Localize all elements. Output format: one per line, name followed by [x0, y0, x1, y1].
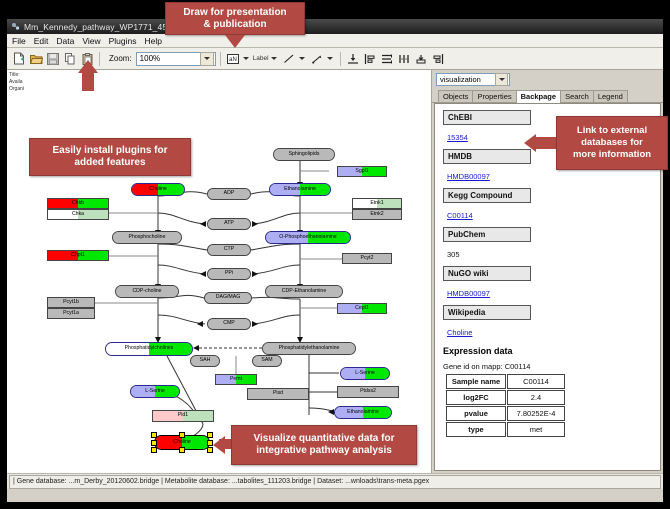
metabolite-node-cmp[interactable]: CMP: [207, 318, 251, 330]
callout-draw-arrow: [225, 35, 245, 48]
node-label: ATP: [224, 221, 234, 226]
gene-node-ptdss2[interactable]: Ptdss2: [337, 386, 399, 398]
node-label: SAH: [200, 358, 211, 363]
expression-table: Sample name C00114 log2FC 2.4 pvalue 7.8…: [445, 373, 566, 438]
node-label: Sgpl1: [355, 169, 368, 174]
callout-links-text: Link to external databases for more info…: [573, 125, 651, 161]
gene-node-pisd[interactable]: Pisd: [247, 388, 309, 400]
metabolite-node-ppi[interactable]: PPi: [207, 268, 251, 280]
svg-text:aN: aN: [229, 57, 237, 63]
align-right-icon[interactable]: [430, 51, 446, 67]
selection-handle[interactable]: [151, 432, 157, 438]
node-label: Pemt: [230, 377, 242, 382]
gene-id-line: Gene id on mapp: C00114: [443, 362, 660, 371]
tab-objects[interactable]: Objects: [438, 90, 473, 102]
metabolite-node-dag-mag[interactable]: DAG/MAG: [204, 292, 252, 304]
gene-node-pcyt1b[interactable]: Pcyt1b: [47, 297, 95, 308]
menu-item-file[interactable]: File: [12, 36, 26, 46]
node-label: Sphingolipids: [289, 152, 320, 157]
callout-visualize: Visualize quantitative data for integrat…: [231, 425, 417, 465]
node-label: Phosphocholine: [129, 235, 166, 240]
expr-key-pvalue: pvalue: [446, 406, 506, 421]
node-label: Cept1: [355, 306, 369, 311]
node-label: Ethanolamine: [347, 410, 379, 415]
title-bar: Mm_Kennedy_pathway_WP1771_45176.gpml: [7, 19, 663, 34]
align-bottom-icon[interactable]: [345, 51, 361, 67]
metabolite-node-choline[interactable]: Choline: [131, 183, 185, 196]
open-folder-icon[interactable]: [28, 51, 44, 67]
db-header-hmdb: HMDB: [443, 149, 531, 164]
gene-node-cept1[interactable]: Cept1: [337, 303, 387, 314]
gene-node-chkb[interactable]: Chkb: [47, 198, 109, 209]
metabolite-node-atp[interactable]: ATP: [207, 218, 251, 230]
chevron-down-icon[interactable]: [200, 52, 214, 66]
copy-icon[interactable]: [62, 51, 78, 67]
selection-handle[interactable]: [151, 447, 157, 453]
node-label: ADP: [224, 191, 235, 196]
callout-links-arrow: [524, 134, 536, 152]
node-label: PPi: [225, 271, 233, 276]
gene-node-pld1[interactable]: Pld1: [152, 410, 214, 422]
node-label: Chpt1: [71, 253, 85, 258]
metabolite-node-l-serine[interactable]: L-Serine: [340, 367, 390, 380]
tab-properties[interactable]: Properties: [472, 90, 516, 102]
interaction-arrow-icon[interactable]: [309, 51, 325, 67]
menu-item-edit[interactable]: Edit: [34, 36, 49, 46]
metabolite-node-ctp[interactable]: CTP: [207, 244, 251, 256]
tab-legend[interactable]: Legend: [593, 90, 628, 102]
node-label: Pcyt1b: [63, 300, 79, 305]
stack-vertical-icon[interactable]: [379, 51, 395, 67]
pathvisio-window: Mm_Kennedy_pathway_WP1771_45176.gpml Fil…: [6, 18, 664, 503]
node-label: Etnk2: [370, 212, 383, 217]
expr-val-type: met: [507, 422, 565, 437]
chevron-down-icon[interactable]: [495, 73, 508, 86]
callout-draw: Draw for presentation & publication: [165, 2, 305, 35]
metabolite-node-phosphocholine[interactable]: Phosphocholine: [112, 231, 182, 244]
node-label: L-Serine: [355, 371, 375, 376]
node-label: SAM: [261, 358, 272, 363]
callout-plugins-stem2: [82, 73, 94, 91]
toolbar: Zoom: 100% aN Label: [7, 48, 663, 70]
metabolite-node-o-phosphoethanolamine[interactable]: O-Phosphoethanolamine: [265, 231, 351, 244]
selection-handle[interactable]: [179, 447, 185, 453]
pathvisio-icon: [11, 22, 20, 31]
table-row: pvalue 7.80252E-4: [446, 406, 565, 421]
gene-node-etnk1[interactable]: Etnk1: [352, 198, 402, 209]
callout-visualize-arrow: [213, 436, 225, 454]
tab-search[interactable]: Search: [560, 90, 594, 102]
expr-key-type: type: [446, 422, 506, 437]
metabolite-node-l-serine[interactable]: L-Serine: [130, 385, 180, 398]
gene-node-chpt1[interactable]: Chpt1: [47, 250, 109, 261]
metabolite-node-sphingolipids[interactable]: Sphingolipids: [273, 148, 335, 161]
gene-node-pcyt1a[interactable]: Pcyt1a: [47, 308, 95, 319]
label-dropdown-label: Label: [253, 55, 269, 62]
metabolite-node-phosphatidylethanolamine[interactable]: Phosphatidylethanolamine: [262, 342, 356, 355]
callout-plugins: Easily install plugins for added feature…: [29, 138, 191, 176]
callout-draw-text: Draw for presentation & publication: [183, 7, 286, 31]
save-icon[interactable]: [45, 51, 61, 67]
db-link-wikipedia[interactable]: Choline: [447, 328, 472, 337]
metabolite-node-cdp-ethanolamine[interactable]: CDP-Ethanolamine: [265, 285, 343, 298]
db-header-wikipedia: Wikipedia: [443, 305, 531, 320]
datanode-dropdown[interactable]: aN: [225, 51, 252, 67]
node-label: Phosphatidylethanolamine: [279, 346, 340, 351]
callout-visualize-text: Visualize quantitative data for integrat…: [254, 433, 395, 457]
node-label: Pcyt2: [361, 256, 374, 261]
db-header-nugo: NuGO wiki: [443, 266, 531, 281]
callout-plugins-arrow: [78, 60, 98, 73]
db-header-chebi: ChEBI: [443, 110, 531, 125]
menu-item-data[interactable]: Data: [56, 36, 74, 46]
node-label: L-Serine: [145, 389, 165, 394]
db-link-kegg[interactable]: C00114: [447, 211, 473, 220]
align-stack-icon[interactable]: [413, 51, 429, 67]
db-link-hmdb[interactable]: HMDB00097: [447, 172, 490, 181]
label-dropdown[interactable]: Label: [253, 55, 280, 62]
pathway-canvas[interactable]: Title: Availa Organi: [7, 70, 432, 473]
line-dropdown[interactable]: [281, 51, 308, 67]
table-row: type met: [446, 422, 565, 437]
metabolite-node-ethanolamine[interactable]: Ethanolamine: [269, 183, 331, 196]
db-link-nugo[interactable]: HMDB00097: [447, 289, 490, 298]
toolbar-separator: [220, 52, 221, 66]
node-label: Phosphatidylcholines: [125, 346, 174, 351]
line-icon[interactable]: [281, 51, 297, 67]
db-header-kegg: Kegg Compound: [443, 188, 531, 203]
db-header-pubchem: PubChem: [443, 227, 531, 242]
gene-node-etnk2[interactable]: Etnk2: [352, 209, 402, 220]
gene-node-chka[interactable]: Chka: [47, 209, 109, 220]
zoom-label: Zoom:: [109, 54, 132, 63]
node-label: CDP-choline: [132, 289, 161, 294]
expression-data-heading: Expression data: [443, 346, 660, 356]
datanode-icon[interactable]: aN: [225, 51, 241, 67]
selection-handle[interactable]: [179, 432, 185, 438]
sidebar-tabs: Objects Properties Backpage Search Legen…: [432, 88, 663, 103]
selection-handle[interactable]: [151, 440, 157, 446]
node-label: O-Phosphoethanolamine: [279, 235, 336, 240]
distribute-horizontal-icon[interactable]: [396, 51, 412, 67]
interaction-dropdown[interactable]: [309, 51, 336, 67]
metabolite-node-phosphatidylcholines[interactable]: Phosphatidylcholines: [105, 342, 193, 356]
node-label: Ethanolamine: [284, 187, 316, 192]
node-label: Choline: [173, 440, 191, 445]
node-label: CMP: [223, 321, 235, 326]
node-label: CDP-Ethanolamine: [282, 289, 326, 294]
callout-links: Link to external databases for more info…: [556, 116, 668, 170]
node-label: Pld1: [178, 413, 188, 418]
callout-plugins-text: Easily install plugins for added feature…: [52, 145, 167, 169]
db-link-chebi[interactable]: 15354: [447, 133, 468, 142]
node-label: Chkb: [72, 201, 84, 206]
table-row: log2FC 2.4: [446, 390, 565, 405]
metabolite-node-sah[interactable]: SAH: [190, 355, 220, 367]
gene-node-pemt[interactable]: Pemt: [215, 374, 257, 385]
node-label: Ptdss2: [360, 389, 376, 394]
visualization-select[interactable]: visualization: [436, 73, 510, 86]
zoom-value: 100%: [140, 54, 160, 63]
menu-item-view[interactable]: View: [82, 36, 100, 46]
menu-item-help[interactable]: Help: [145, 36, 162, 46]
visualization-value: visualization: [440, 75, 481, 84]
node-label: Etnk1: [370, 201, 383, 206]
node-label: Pcyt1a: [63, 311, 79, 316]
metabolite-node-adp[interactable]: ADP: [207, 188, 251, 200]
metabolite-node-ethanolamine[interactable]: Ethanolamine: [334, 406, 392, 419]
node-label: Pisd: [273, 391, 283, 396]
new-file-icon[interactable]: [11, 51, 27, 67]
gene-node-pcyt2[interactable]: Pcyt2: [342, 253, 392, 264]
expr-key-sample-name: Sample name: [446, 374, 506, 389]
node-label: Choline: [149, 187, 167, 192]
gene-node-sgpl1[interactable]: Sgpl1: [337, 166, 387, 177]
node-label: CTP: [224, 247, 234, 252]
toolbar-separator: [340, 52, 341, 66]
status-bar: | Gene database: ...m_Derby_20120602.bri…: [7, 473, 663, 489]
metabolite-node-sam[interactable]: SAM: [252, 355, 282, 367]
callout-links-stem: [534, 137, 558, 149]
db-value-pubchem: 305: [447, 250, 460, 259]
expr-val-log2fc: 2.4: [507, 390, 565, 405]
menu-item-plugins[interactable]: Plugins: [109, 36, 137, 46]
node-label: DAG/MAG: [216, 295, 241, 300]
toolbar-separator: [99, 52, 100, 66]
expr-key-log2fc: log2FC: [446, 390, 506, 405]
zoom-select[interactable]: 100%: [136, 52, 216, 66]
status-text: | Gene database: ...m_Derby_20120602.bri…: [9, 475, 661, 489]
align-left-icon[interactable]: [362, 51, 378, 67]
node-label: Chka: [72, 212, 84, 217]
table-row: Sample name C00114: [446, 374, 565, 389]
expr-val-pvalue: 7.80252E-4: [507, 406, 565, 421]
tab-backpage[interactable]: Backpage: [516, 90, 561, 103]
metabolite-node-cdp-choline[interactable]: CDP-choline: [115, 285, 179, 298]
menu-bar: File Edit Data View Plugins Help: [7, 34, 663, 48]
expr-val-sample-name: C00114: [507, 374, 565, 389]
